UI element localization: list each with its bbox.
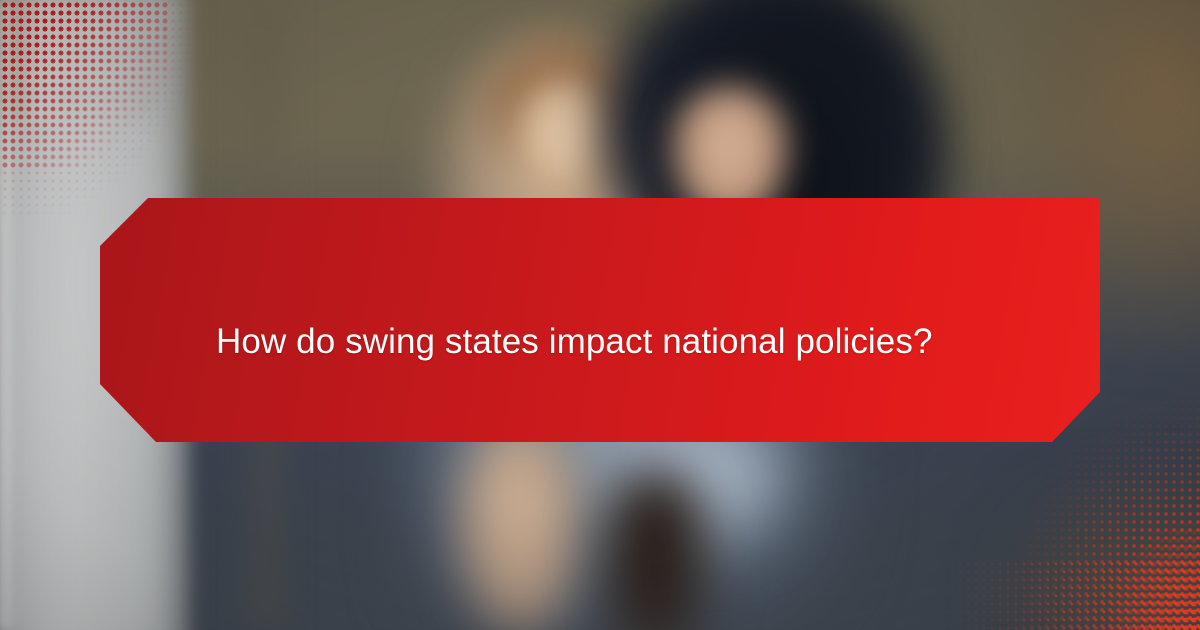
share-card: How do swing states impact national poli… [0, 0, 1200, 630]
headline-banner: How do swing states impact national poli… [100, 198, 1100, 442]
headline-title: How do swing states impact national poli… [100, 277, 993, 363]
